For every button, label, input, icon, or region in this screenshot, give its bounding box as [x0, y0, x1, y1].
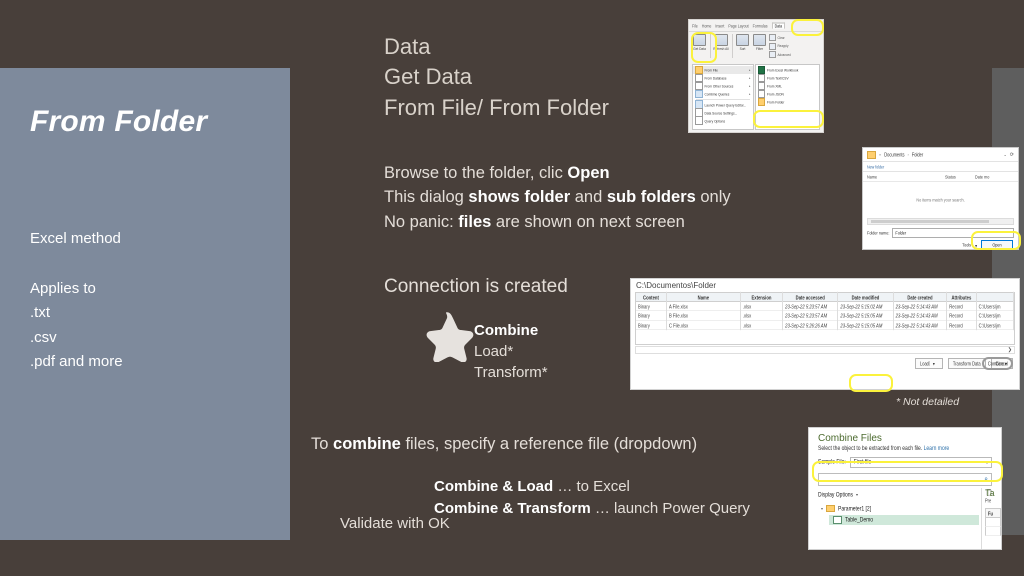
advanced-command[interactable]: Advanced [769, 51, 791, 58]
highlight-data-tab [791, 19, 824, 36]
menu-item-data-source-settings-label: Data Source Settings... [705, 110, 738, 115]
folder-name-label: Folder name: [867, 230, 889, 235]
transform-data-button[interactable]: Transform Data [948, 358, 986, 369]
combine-transform-line: Combine & Transform … launch Power Query [434, 498, 750, 520]
applies-heading: Applies to [30, 277, 123, 301]
preview-pane: Ta Pre Fu [981, 488, 1001, 549]
menu-item-query-options-label: Query Options [705, 118, 726, 123]
submenu-item-from-xml[interactable]: From XML [756, 82, 819, 90]
filter-icon [753, 34, 766, 46]
empty-message: No items match your search. [916, 197, 964, 202]
scrollbar-thumb[interactable] [871, 220, 989, 223]
submenu-item-from-folder[interactable]: From Folder [756, 98, 819, 106]
horizontal-scrollbar[interactable] [867, 218, 1014, 225]
chevron-right-icon: ▸ [749, 68, 751, 72]
power-query-navigator-screenshot: C:\Documentos\Folder Content Name Extens… [630, 278, 1020, 390]
option-load: Load* [474, 341, 548, 362]
file-list-empty-area: No items match your search. [863, 182, 1018, 218]
option-transform: Transform* [474, 362, 548, 383]
breadcrumb-documents[interactable]: Documents [884, 151, 904, 158]
combine-load-line: Combine & Load … to Excel [434, 476, 750, 498]
combine-intro-lead: To [311, 435, 333, 453]
ribbon-tab-home[interactable]: Home [702, 23, 712, 28]
breadcrumb-sep-1: › [907, 152, 908, 157]
table-row[interactable]: Binary C File.xlsx .xlsx 23-Sep-22 5:26:… [636, 321, 1014, 330]
navigator-footer-buttons: Combine ▾ Load▾ Transform Data Cancel [631, 354, 1019, 369]
browse-line1-open: Open [567, 164, 609, 182]
cell-content: Binary [636, 319, 667, 330]
browse-line2-only: only [696, 188, 731, 206]
dialog-toolbar: New folder [863, 162, 1018, 172]
slide-canvas: From Folder Excel method Applies to .txt… [0, 0, 1024, 576]
file-list-header: Name Status Date mo [863, 172, 1018, 182]
cell-date-accessed: 23-Sep-22 5:26:26 AM [783, 319, 838, 330]
ribbon-tab-formulas[interactable]: Formulas [753, 23, 768, 28]
submenu-item-from-json-label: From JSON [767, 92, 784, 97]
new-folder-button[interactable]: New folder [867, 164, 884, 169]
applies-item-txt: .txt [30, 301, 123, 325]
submenu-item-from-folder-label: From Folder [767, 100, 784, 105]
combine-load-desc: … to Excel [553, 478, 630, 495]
clear-icon [769, 34, 776, 41]
reapply-label: Reapply [778, 44, 789, 49]
cell-name: C File.xlsx [667, 319, 741, 330]
cell-date-modified: 23-Sep-22 5:15:05 AM [838, 319, 893, 330]
ribbon-tab-file[interactable]: File [692, 23, 698, 28]
folder-icon [826, 505, 835, 513]
browse-line2-and: and [570, 188, 607, 206]
ribbon-separator-2 [732, 34, 733, 58]
connection-heading: Connection is created [384, 276, 568, 298]
highlight-combine-button [849, 374, 893, 392]
browse-line-2: This dialog shows folder and sub folders… [384, 185, 731, 209]
submenu-item-from-text-csv-label: From Text/CSV [767, 76, 789, 81]
menu-path-get-data: Get Data [384, 62, 609, 92]
description-text: Select the object to be extracted from e… [818, 445, 922, 453]
column-header-status[interactable]: Status [945, 174, 975, 179]
connection-options: Combine Load* Transform* [474, 320, 548, 383]
navigator-horizontal-scrollbar[interactable]: ❯ [635, 346, 1015, 354]
chevron-right-icon-4: ▸ [749, 92, 751, 96]
validate-line: Validate with OK [340, 515, 450, 532]
advanced-icon [769, 51, 776, 58]
menu-item-query-options[interactable]: Query Options [693, 117, 753, 125]
ribbon-tab-page-layout[interactable]: Page Layout [728, 23, 748, 28]
cell-folder-path: C:\Users\jm [977, 319, 1014, 330]
tree-node-parameter1-label: Parameter1 [2] [838, 505, 871, 513]
option-combine: Combine [474, 320, 548, 341]
menu-item-from-file-label: From File [705, 68, 718, 73]
tools-button[interactable]: Tools [962, 242, 971, 247]
sort-button[interactable]: Sort [735, 34, 750, 56]
combine-queries-icon [695, 90, 703, 99]
browse-line3-lead: No panic: [384, 213, 458, 231]
combine-actions: Combine & Load … to Excel Combine & Tran… [434, 476, 750, 520]
breadcrumb-sep-0: « [879, 152, 881, 157]
cell-date-created: 23-Sep-22 5:14:43 AM [894, 319, 948, 330]
combine-files-title: Combine Files [809, 428, 1001, 446]
ribbon-tab-insert[interactable]: Insert [715, 23, 724, 28]
from-folder-icon [758, 98, 766, 107]
combine-load-label: Combine & Load [434, 478, 553, 495]
highlight-from-folder-item [753, 110, 824, 128]
learn-more-link[interactable]: Learn more [924, 445, 950, 453]
menu-path-data: Data [384, 32, 609, 62]
menu-item-combine-queries[interactable]: Combine Queries▸ [693, 90, 753, 98]
display-options-button[interactable]: Display Options [818, 491, 853, 499]
browse-line2-shows-folder: shows folder [468, 188, 570, 206]
not-detailed-note: * Not detailed [896, 396, 959, 408]
sort-label: Sort [740, 47, 746, 52]
menu-item-from-database-label: From Database [705, 76, 727, 81]
folder-icon [867, 151, 876, 159]
browse-line2-sub-folders: sub folders [607, 188, 696, 206]
browse-line3-rest: are shown on next screen [491, 213, 685, 231]
clear-command[interactable]: Clear [769, 34, 791, 41]
combine-intro-bold: combine [333, 435, 401, 453]
browse-line3-files: files [458, 213, 491, 231]
advanced-label: Advanced [778, 52, 791, 57]
table-empty-space [636, 330, 1014, 344]
reapply-command[interactable]: Reapply [769, 43, 791, 50]
sidebar-subtitle: Excel method [30, 230, 121, 248]
star-icon [420, 310, 474, 362]
reapply-icon [769, 43, 776, 50]
tree-leaf-table-demo-label: Table_Demo [845, 516, 873, 524]
preview-row [985, 527, 1001, 536]
dialog-address-bar: « Documents › Folder ⌄ ⟳ [863, 148, 1018, 162]
browse-line2-lead: This dialog [384, 188, 468, 206]
scroll-right-icon[interactable]: ❯ [1008, 347, 1012, 353]
address-dropdown-icon[interactable]: ⌄ [1003, 152, 1006, 157]
column-header-name[interactable]: Name [867, 174, 945, 179]
tree-leaf-table-demo[interactable]: Table_Demo [829, 515, 979, 525]
object-tree: ▾ Parameter1 [2] Table_Demo [809, 500, 1001, 525]
filter-extra-commands: Clear Reapply Advanced [769, 34, 791, 58]
submenu-item-from-xml-label: From XML [767, 84, 782, 89]
table-icon [833, 516, 842, 524]
applies-item-pdf: .pdf and more [30, 350, 123, 374]
sidebar-applies-list: Applies to .txt .csv .pdf and more [30, 277, 123, 374]
preview-row [985, 518, 1001, 527]
combine-transform-desc: … launch Power Query [591, 500, 750, 517]
combine-intro: To combine files, specify a reference fi… [311, 435, 697, 454]
combine-transform-label: Combine & Transform [434, 500, 591, 517]
preview-subtitle: Pre [985, 497, 1001, 503]
cell-extension: .xlsx [741, 319, 783, 330]
preview-column-label: Fu [988, 510, 993, 516]
breadcrumb-folder[interactable]: Folder [912, 151, 923, 158]
navigator-path: C:\Documentos\Folder [631, 279, 1019, 291]
query-options-icon [695, 116, 703, 125]
ribbon-tab-data[interactable]: Data [772, 22, 786, 28]
load-split-caret-icon[interactable]: ▾ [929, 361, 938, 366]
combine-intro-rest: files, specify a reference file (dropdow… [401, 435, 697, 453]
highlight-get-data-button [691, 32, 717, 63]
column-header-date-modified[interactable]: Date mo [975, 174, 989, 179]
applies-item-csv: .csv [30, 326, 123, 350]
load-button-label: Load [920, 360, 929, 367]
menu-path-block: Data Get Data From File/ From Folder [384, 32, 609, 123]
page-title: From Folder [30, 105, 280, 138]
tree-node-parameter1[interactable]: ▾ Parameter1 [2] [821, 504, 1001, 513]
browse-line-1: Browse to the folder, clic Open [384, 161, 731, 185]
get-data-menu-primary-column: From File▸ From Database▸ From Other Sou… [692, 64, 754, 130]
display-options-caret-icon[interactable]: ▾ [856, 492, 858, 497]
menu-item-combine-queries-label: Combine Queries [705, 92, 730, 97]
chevron-right-icon-2: ▸ [749, 76, 751, 80]
highlight-open-button [971, 231, 1021, 250]
browse-line-3: No panic: files are shown on next screen [384, 210, 731, 234]
filter-label: Filter [756, 47, 763, 52]
submenu-item-from-excel-workbook-label: From Excel Workbook [767, 68, 798, 73]
submenu-item-from-excel-workbook[interactable]: From Excel Workbook [756, 66, 819, 74]
ribbon-group-sort-filter: Sort Filter Clear Reapply Advanced [735, 34, 791, 58]
load-button[interactable]: Load▾ [915, 358, 943, 369]
combine-files-dialog-screenshot: Combine Files Select the object to be ex… [808, 427, 1002, 550]
display-options-row: Display Options ▾ 🗋 [809, 486, 1001, 500]
filter-button[interactable]: Filter [752, 34, 767, 56]
navigator-table: Content Name Extension Date accessed Dat… [635, 292, 1015, 345]
highlight-sample-file [812, 461, 1003, 482]
chevron-right-icon-3: ▸ [749, 84, 751, 88]
menu-path-from-file: From File/ From Folder [384, 93, 609, 123]
menu-item-launch-editor-label: Launch Power Query Editor... [705, 102, 747, 107]
browse-line1-lead: Browse to the folder, clic [384, 164, 567, 182]
triangle-down-icon[interactable]: ▾ [821, 506, 823, 511]
preview-column-header: Fu [985, 508, 1001, 518]
menu-divider [696, 99, 750, 100]
cell-attributes: Record [947, 319, 976, 330]
folder-name-value: Folder [895, 230, 906, 235]
browse-instructions: Browse to the folder, clic Open This dia… [384, 161, 731, 234]
submenu-item-from-json[interactable]: From JSON [756, 90, 819, 98]
menu-item-from-other-sources-label: From Other Sources [705, 84, 734, 89]
transform-data-label: Transform Data [953, 360, 981, 367]
refresh-icon[interactable]: ⟳ [1010, 152, 1014, 158]
cancel-button-label: Cancel [996, 360, 1008, 367]
combine-files-description: Select the object to be extracted from e… [809, 445, 1001, 458]
clear-label: Clear [778, 35, 785, 40]
sort-icon [736, 34, 749, 46]
submenu-item-from-text-csv[interactable]: From Text/CSV [756, 74, 819, 82]
